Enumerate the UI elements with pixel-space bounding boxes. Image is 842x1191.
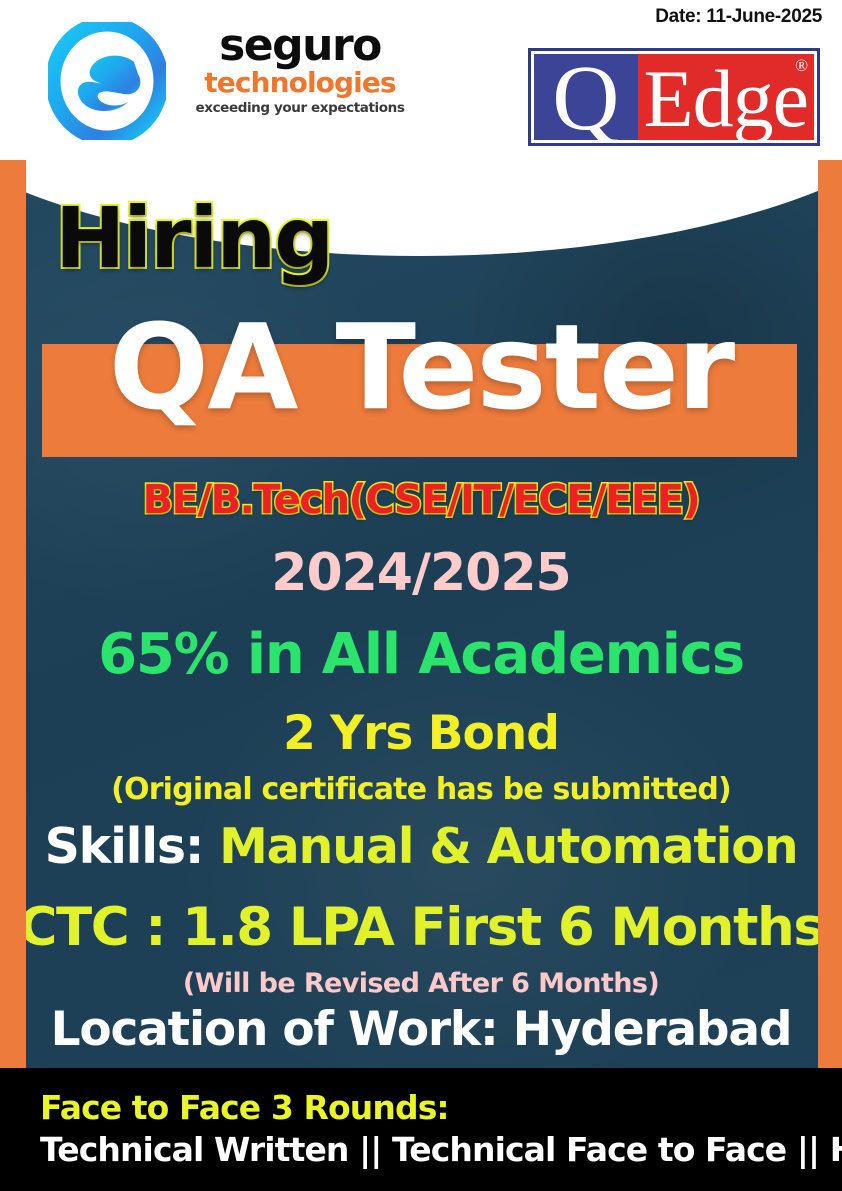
ctc-line: CTC : 1.8 LPA First 6 Months <box>0 900 842 955</box>
interview-rounds-detail: Technical Written || Technical Face to F… <box>40 1130 842 1169</box>
bond-line: 2 Yrs Bond <box>0 710 842 759</box>
ctc-note-line: (Will be Revised After 6 Months) <box>0 970 842 998</box>
qedge-edge-text: Edge <box>644 64 808 134</box>
qedge-edge-panel: Edge ® <box>638 54 814 140</box>
poster-footer: Face to Face 3 Rounds: Technical Written… <box>0 1068 842 1191</box>
poster-body: Hiring QA Tester BE/B.Tech(CSE/IT/ECE/EE… <box>0 148 842 1068</box>
qedge-logo: Q Edge ® <box>528 48 820 146</box>
job-title: QA Tester <box>0 308 842 426</box>
interview-rounds-title: Face to Face 3 Rounds: <box>40 1088 449 1127</box>
seguro-subname: technologies <box>190 68 410 97</box>
right-orange-strip <box>818 150 842 1068</box>
hiring-headline: Hiring <box>55 196 332 280</box>
work-location-line: Location of Work: Hyderabad <box>0 1006 842 1055</box>
academic-percentage-line: 65% in All Academics <box>0 626 842 684</box>
left-orange-strip <box>0 150 26 1068</box>
batch-year-line: 2024/2025 <box>0 546 842 600</box>
skills-label: Skills: <box>45 818 220 875</box>
poster-header: Date: 11-June-2025 <box>0 0 842 160</box>
qualification-line: BE/B.Tech(CSE/IT/ECE/EEE) <box>0 480 842 522</box>
skills-line: Skills: Manual & Automation <box>0 822 842 873</box>
skills-value: Manual & Automation <box>219 818 797 875</box>
seguro-logo: seguro technologies exceeding your expec… <box>40 18 410 143</box>
seguro-wordmark: seguro technologies exceeding your expec… <box>190 24 410 116</box>
seguro-tagline: exceeding your expectations <box>190 100 410 116</box>
recruitment-poster: Date: 11-June-2025 <box>0 0 842 1191</box>
seguro-name: seguro <box>190 24 410 67</box>
qedge-q-panel: Q <box>534 54 638 140</box>
registered-trademark-icon: ® <box>795 56 808 76</box>
qedge-q-letter: Q <box>552 61 619 137</box>
bond-note-line: (Original certificate has be submitted) <box>0 774 842 805</box>
seguro-circle-icon <box>48 22 166 140</box>
date-label: Date: 11-June-2025 <box>655 6 822 28</box>
